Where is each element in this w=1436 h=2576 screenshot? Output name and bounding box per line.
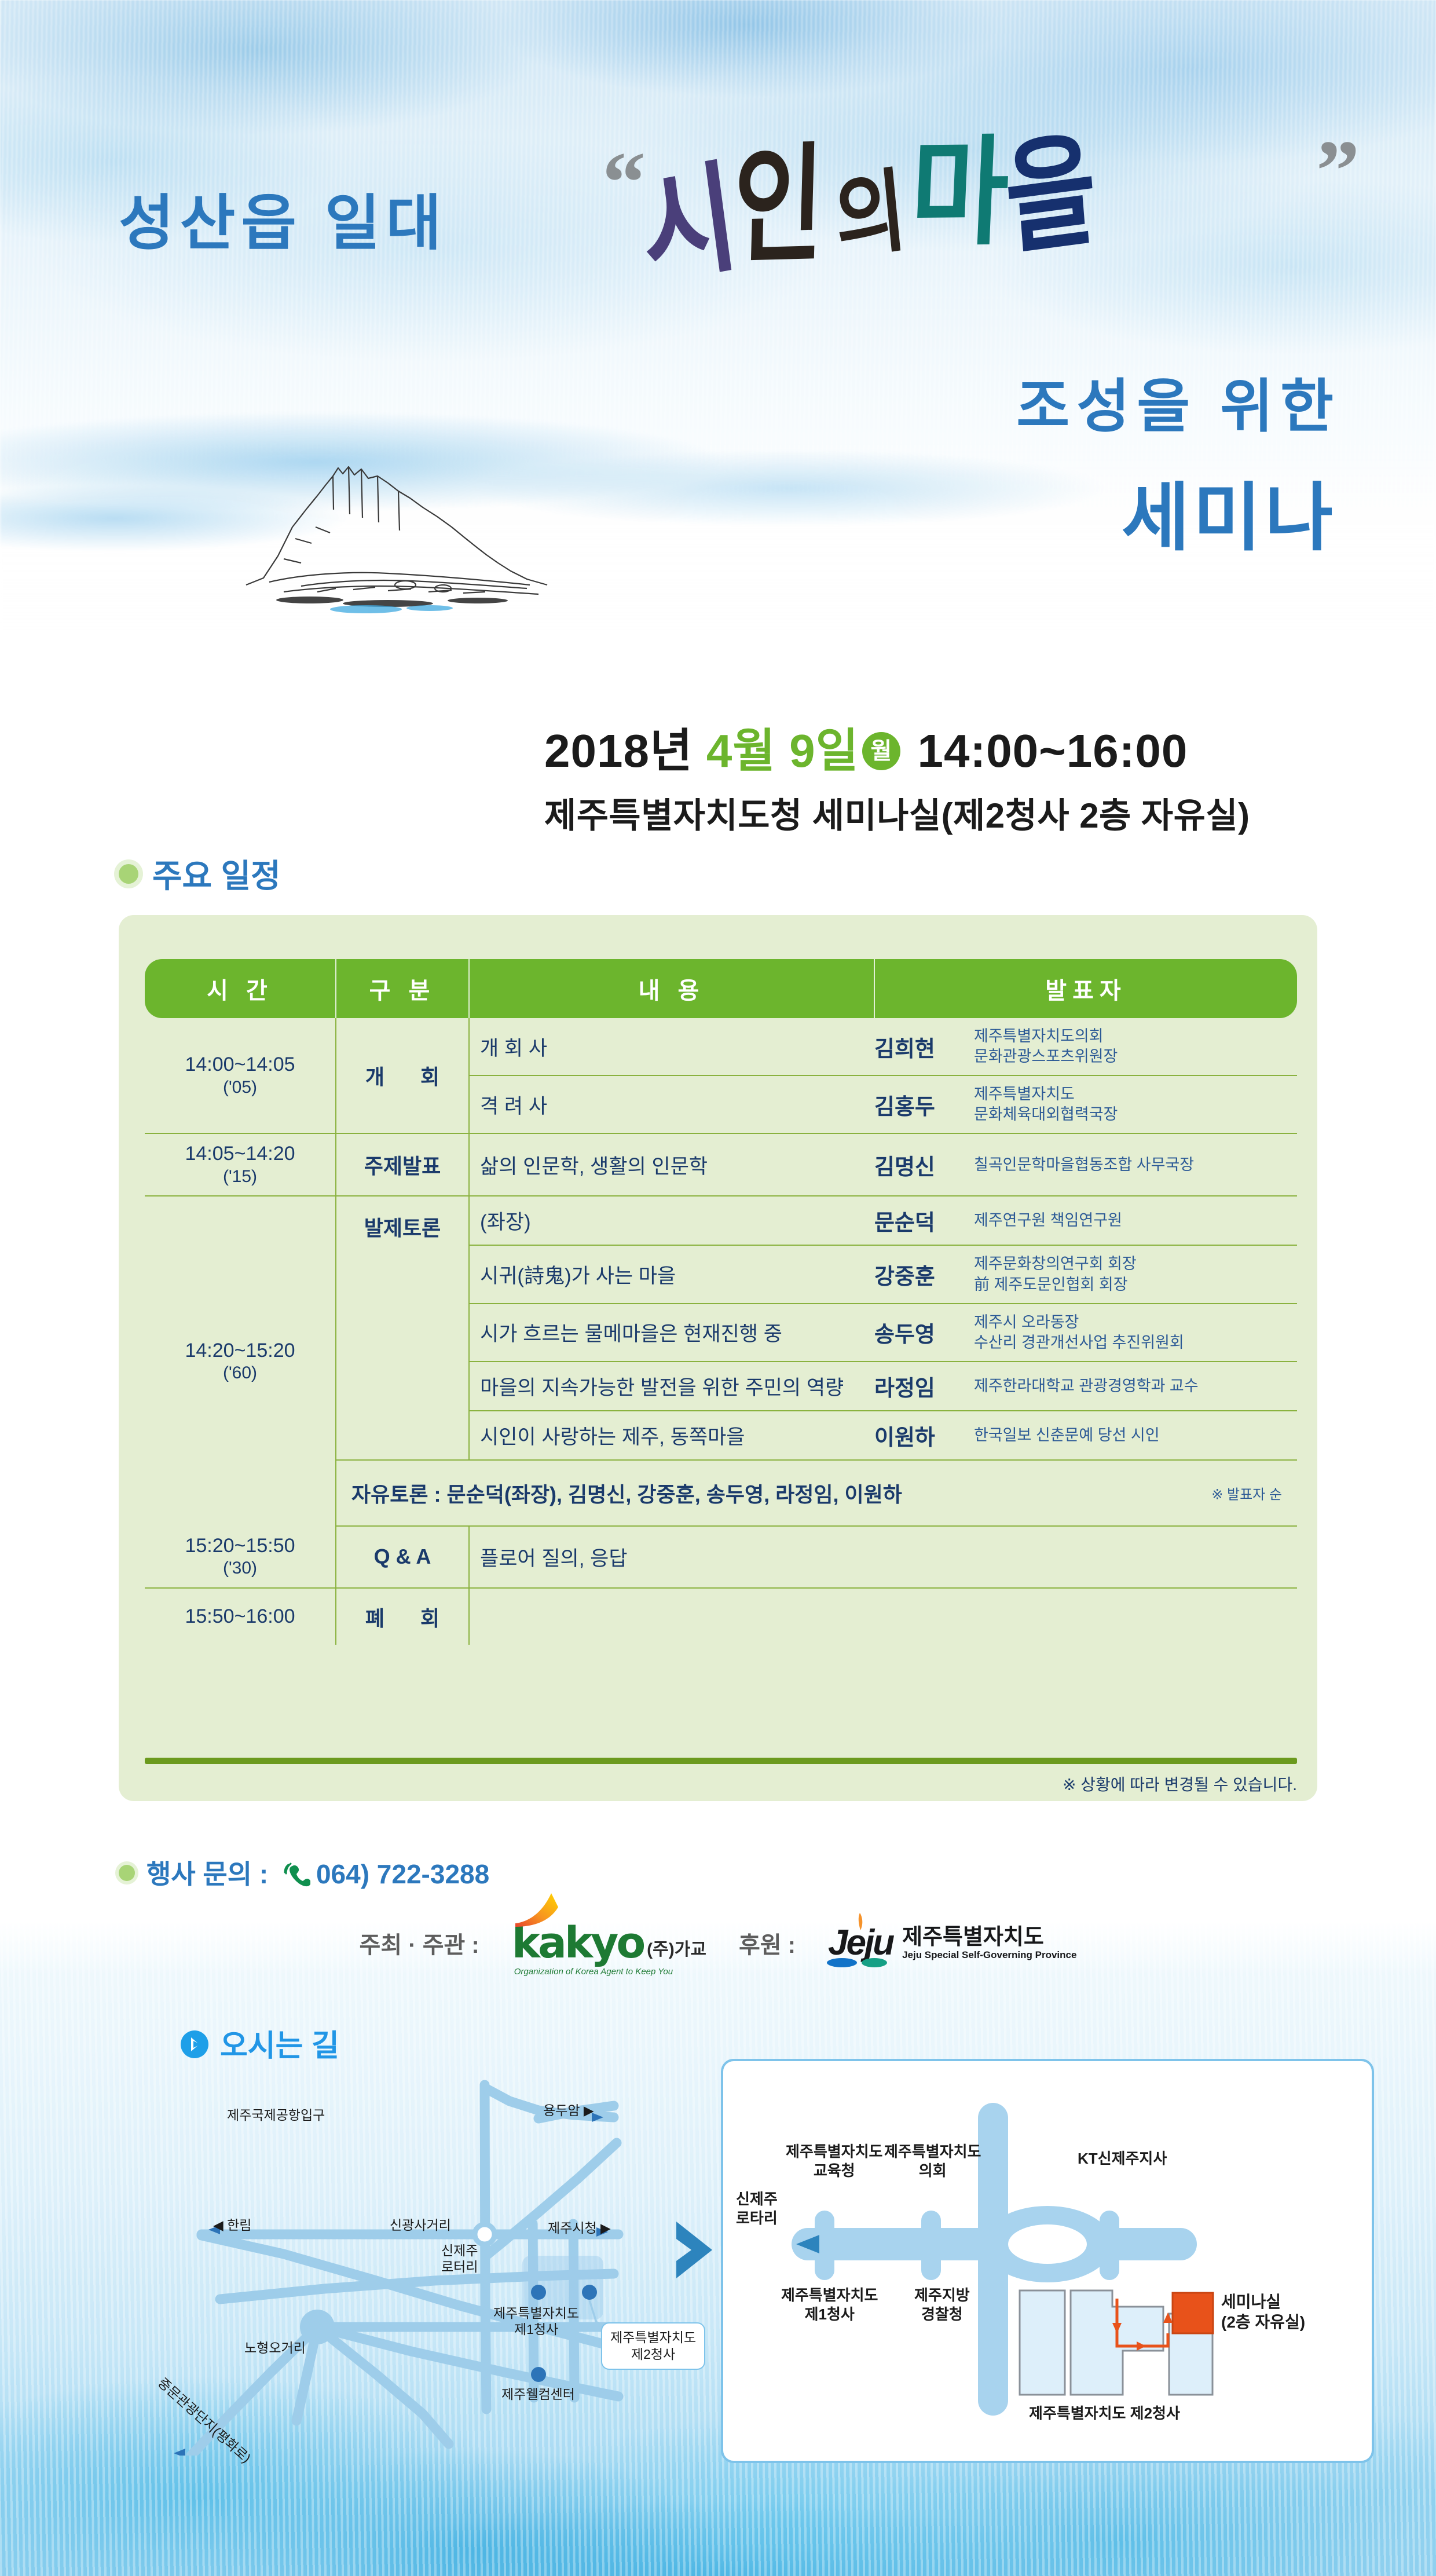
- map-label-sinjeju-rotary: 신제주로터리: [441, 2242, 478, 2275]
- calligraphy-char-2: 인: [732, 141, 826, 271]
- event-year: 2018년: [544, 725, 693, 777]
- jeju-name-korean: 제주특별자치도: [902, 1926, 1076, 1950]
- cell-content-3-5: 시인이 사랑하는 제주, 동쪽마을: [469, 1411, 874, 1460]
- speaker-org: 제주연구원 책임연구원: [974, 1210, 1122, 1231]
- bullet-dot-icon: [119, 1865, 135, 1881]
- nohyeong-intersection-marker: [300, 2310, 335, 2344]
- contact-line: 행사 문의 : 064) 722-3288: [119, 1853, 489, 1893]
- event-time-range: 14:00~16:00: [917, 725, 1188, 777]
- time-duration-2: ('15): [155, 1166, 325, 1188]
- cell-time-2: 14:05~14:20 ('15): [145, 1133, 336, 1196]
- contact-label: 행사 문의 :: [146, 1859, 276, 1889]
- kakyo-logo: kakyo Organization of Korea Agent to Kee…: [512, 1923, 706, 1963]
- time-duration-4: ('30): [155, 1558, 325, 1579]
- header-subtitle-left: 성산읍 일대: [119, 174, 640, 261]
- schedule-section-label-text: 주요 일정: [152, 858, 281, 894]
- speaker-name: 라정임: [874, 1370, 961, 1402]
- chevron-right-icon: [672, 2218, 718, 2285]
- column-header-time: 시 간: [145, 959, 336, 1018]
- jeju-name-english: Jeju Special Self-Governing Province: [902, 1950, 1076, 1961]
- cell-speaker-3-5: 이원하 한국일보 신춘문예 당선 시인: [874, 1411, 1297, 1460]
- jeju-logo: Jeju 제주특별자치도 Jeju Special Self-Governing…: [828, 1926, 1076, 1960]
- speaker-name: 문순덕: [874, 1205, 961, 1236]
- map-label-jeju-city-hall: 제주시청 ▶: [548, 2220, 611, 2236]
- speaker-org: 제주특별자치도문화체육대외협력국장: [974, 1084, 1118, 1125]
- island-illustration: [214, 440, 620, 614]
- quote-close-mark: ”: [1316, 127, 1360, 214]
- kakyo-tagline: Organization of Korea Agent to Keep You: [514, 1967, 673, 1977]
- time-duration-1: ('05): [155, 1077, 325, 1099]
- time-range-3: 14:20~15:20: [155, 1339, 325, 1363]
- speaker-org: 제주시 오라동장수산리 경관개선사업 추진위원회: [974, 1312, 1184, 1353]
- map-label-province-hall-1: 제주특별자치도제1청사: [493, 2305, 579, 2337]
- cell-time-3: 14:20~15:20 ('60): [145, 1196, 336, 1525]
- cell-speaker-1-1: 김희현 제주특별자치도의회문화관광스포츠위원장: [874, 1018, 1297, 1075]
- table-row: 15:50~16:00 폐 회: [145, 1588, 1297, 1645]
- page-title: 세미나: [1122, 458, 1336, 565]
- overview-map-roads: [133, 2050, 730, 2456]
- cell-content-1-2: 격 려 사: [469, 1075, 874, 1133]
- cell-time-1: 14:00~14:05 ('05): [145, 1018, 336, 1133]
- free-discussion-text: 자유토론 : 문순덕(좌장), 김명신, 강중훈, 송두영, 라정임, 이원하: [351, 1483, 902, 1506]
- table-bottom-bar: [145, 1758, 1297, 1764]
- poster-header: 성산읍 일대 “ ” 시인의마을 조성을 위한 세미나: [0, 0, 1436, 666]
- event-month: 4월: [706, 725, 776, 777]
- cell-speaker-3-3: 송두영 제주시 오라동장수산리 경관개선사업 추진위원회: [874, 1304, 1297, 1362]
- speaker-name: 강중훈: [874, 1258, 961, 1290]
- time-duration-3: ('60): [155, 1363, 325, 1384]
- calligraphy-char-5: 을: [1001, 128, 1101, 262]
- cell-content-3-2: 시귀(詩鬼)가 사는 마을: [469, 1245, 874, 1303]
- cell-kind-5: 폐 회: [336, 1588, 469, 1645]
- speaker-name: 김명신: [874, 1149, 961, 1181]
- schedule-table: 시 간 구 분 내 용 발표자 14:00~14:05 ('05) 개 회 개 …: [145, 959, 1297, 1645]
- event-date-line: 2018년 4월 9일월 14:00~16:00: [544, 713, 1188, 781]
- map-callout-province-hall-2: 제주특별자치도제2청사: [601, 2322, 705, 2370]
- calligraphy-title: “ ” 시인의마을: [602, 145, 1355, 295]
- schedule-footnote: ※ 상황에 따라 변경될 수 있습니다.: [1063, 1772, 1297, 1795]
- column-header-kind: 구 분: [336, 959, 469, 1018]
- seminar-room-highlight: [1173, 2293, 1213, 2333]
- time-range-4: 15:20~15:50: [155, 1534, 325, 1558]
- time-range-1: 14:00~14:05: [155, 1053, 325, 1077]
- host-label: 주최 · 주관 :: [360, 1926, 479, 1960]
- speaker-name: 김희현: [874, 1031, 961, 1063]
- detail-label-sinjeju-rotary: 신제주로타리: [736, 2190, 778, 2227]
- detail-label-seminar-room: 세미나실(2층 자유실): [1221, 2292, 1305, 2332]
- map-label-airport-entrance: 제주국제공항입구: [227, 2107, 325, 2123]
- map-label-hallim: ◀ 한림: [213, 2217, 251, 2233]
- map-label-singwang-junction: 신광사거리: [390, 2217, 451, 2233]
- detail-label-province-hall-1: 제주특별자치도제1청사: [781, 2286, 878, 2323]
- detail-label-province-hall-2: 제주특별자치도 제2청사: [1029, 2404, 1180, 2423]
- kakyo-flame-icon: [514, 1891, 559, 1928]
- cell-speaker-3-4: 라정임 제주한라대학교 관광경영학과 교수: [874, 1362, 1297, 1411]
- cell-speaker-3-2: 강중훈 제주문화창의연구회 회장前 제주도문인협회 회장: [874, 1245, 1297, 1303]
- cell-time-5: 15:50~16:00: [145, 1588, 336, 1645]
- cell-speaker-1-2: 김홍두 제주특별자치도문화체육대외협력국장: [874, 1075, 1297, 1133]
- speaker-org: 제주한라대학교 관광경영학과 교수: [974, 1376, 1199, 1396]
- table-header-row: 시 간 구 분 내 용 발표자: [145, 959, 1297, 1018]
- jeju-name-block: 제주특별자치도 Jeju Special Self-Governing Prov…: [902, 1926, 1076, 1960]
- map-label-welcome-center: 제주웰컴센터: [501, 2386, 575, 2402]
- jeju-underline-icon: [827, 1957, 891, 1968]
- kakyo-korean-name: (주)가교: [647, 1935, 706, 1963]
- detail-label-education-office: 제주특별자치도교육청: [786, 2142, 882, 2180]
- schedule-section-label: 주요 일정: [119, 850, 281, 897]
- column-header-content: 내 용: [469, 959, 874, 1018]
- bullet-dot-icon: [119, 864, 138, 884]
- detail-map: 제주특별자치도교육청 제주특별자치도의회 KT신제주지사 신제주로타리 제주특별…: [721, 2059, 1374, 2463]
- sponsor-row: 주최 · 주관 : kakyo Organization of Korea Ag…: [0, 1905, 1436, 1981]
- cell-kind-1: 개 회: [336, 1018, 469, 1133]
- detail-label-police-agency: 제주지방경찰청: [914, 2286, 970, 2323]
- table-row: 14:05~14:20 ('15) 주제발표 삶의 인문학, 생활의 인문학 김…: [145, 1133, 1297, 1196]
- table-row: 14:00~14:05 ('05) 개 회 개 회 사 김희현 제주특별자치도의…: [145, 1018, 1297, 1075]
- cell-speaker-2-1: 김명신 칠곡인문학마을협동조합 사무국장: [874, 1133, 1297, 1196]
- calligraphy-char-1: 시: [634, 157, 744, 292]
- map-label-nohyeong-intersection: 노형오거리: [244, 2340, 306, 2356]
- sinjeju-rotary-marker: [475, 2224, 494, 2244]
- detail-label-provincial-council: 제주특별자치도의회: [884, 2142, 981, 2180]
- calligraphy-char-3: 의: [831, 165, 910, 265]
- speaker-name: 송두영: [874, 1316, 961, 1348]
- day-of-week-badge: 월: [862, 732, 900, 770]
- speaker-org: 한국일보 신춘문예 당선 시인: [974, 1425, 1160, 1446]
- cell-content-3-4: 마을의 지속가능한 발전을 위한 주민의 역량: [469, 1362, 874, 1411]
- event-venue: 제주특별자치도청 세미나실(제2청사 2층 자유실): [544, 788, 1250, 838]
- cell-content-1-1: 개 회 사: [469, 1018, 874, 1075]
- header-subtitle-right: 조성을 위한: [1016, 359, 1340, 443]
- cell-kind-3: 발제토론: [336, 1196, 469, 1459]
- event-day: 9일: [789, 725, 859, 777]
- speaker-org: 제주문화창의연구회 회장前 제주도문인협회 회장: [974, 1254, 1137, 1294]
- calligraphy-char-4: 마: [909, 134, 1012, 253]
- time-range-2: 14:05~14:20: [155, 1142, 325, 1166]
- detail-label-kt-branch: KT신제주지사: [1078, 2149, 1167, 2168]
- cell-content-3-1: (좌장): [469, 1196, 874, 1245]
- cell-time-4: 15:20~15:50 ('30): [145, 1526, 336, 1588]
- speaker-name: 이원하: [874, 1419, 961, 1451]
- speaker-name: 김홍두: [874, 1089, 961, 1121]
- kakyo-wordmark: kakyo: [512, 1923, 643, 1963]
- cell-kind-4: Q & A: [336, 1526, 469, 1588]
- table-row: 14:20~15:20 ('60) 발제토론 (좌장) 문순덕 제주연구원 책임…: [145, 1196, 1297, 1245]
- phone-icon: [284, 1862, 310, 1893]
- cell-content-2-1: 삶의 인문학, 생활의 인문학: [469, 1133, 874, 1196]
- detail-map-roads: [723, 2061, 1367, 2456]
- speaker-org: 제주특별자치도의회문화관광스포츠위원장: [974, 1026, 1118, 1067]
- contact-phone[interactable]: 064) 722-3288: [316, 1859, 489, 1889]
- cell-content-3-3: 시가 흐르는 물메마을은 현재진행 중: [469, 1304, 874, 1362]
- cell-kind-2: 주제발표: [336, 1133, 469, 1196]
- speaker-org: 칠곡인문학마을협동조합 사무국장: [974, 1155, 1194, 1175]
- map-label-yongduam: 용두암 ▶: [543, 2102, 594, 2118]
- column-header-speaker: 발표자: [874, 959, 1297, 1018]
- cell-content-5: [469, 1588, 1297, 1645]
- table-row: 15:20~15:50 ('30) Q & A 플로어 질의, 응답: [145, 1526, 1297, 1588]
- free-discussion-note: ※ 발표자 순: [1211, 1483, 1282, 1503]
- support-label: 후원 :: [739, 1926, 796, 1960]
- cell-speaker-3-1: 문순덕 제주연구원 책임연구원: [874, 1196, 1297, 1245]
- cell-free-discussion: 자유토론 : 문순덕(좌장), 김명신, 강중훈, 송두영, 라정임, 이원하 …: [336, 1460, 1297, 1526]
- cell-content-4: 플로어 질의, 응답: [469, 1526, 1297, 1588]
- overview-map: 제주국제공항입구 용두암 ▶ ◀ 한림 신광사거리 제주시청 ▶ 신제주로터리 …: [133, 2050, 730, 2456]
